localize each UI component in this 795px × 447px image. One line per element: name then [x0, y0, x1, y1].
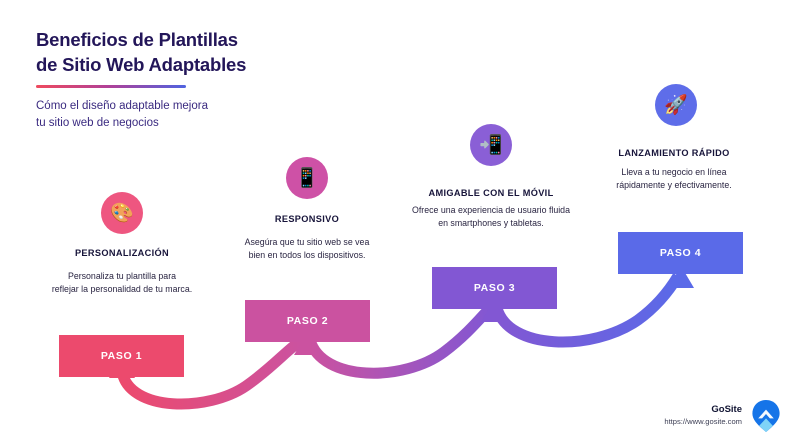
step-2-badge[interactable]: PASO 2: [245, 300, 370, 342]
step-2-description: Asegúra que tu sitio web se vea bien en …: [202, 236, 412, 262]
step-1-icon-glyph: 🎨: [110, 204, 134, 223]
mobile-phone-icon: 📱: [286, 157, 328, 199]
step-4-badge-label: PASO 4: [660, 247, 701, 259]
step-3-icon-glyph: 📲: [479, 136, 503, 155]
step-3-badge-label: PASO 3: [474, 282, 515, 294]
step-4-title: LANZAMIENTO RÁPIDO: [574, 148, 774, 158]
page-subtitle: Cómo el diseño adaptable mejora tu sitio…: [36, 98, 366, 131]
step-2-icon-glyph: 📱: [295, 169, 319, 188]
gosite-logo: [751, 399, 781, 433]
step-3-badge[interactable]: PASO 3: [432, 267, 557, 309]
artist-palette-icon: 🎨: [101, 192, 143, 234]
step-1-title: PERSONALIZACIÓN: [22, 248, 222, 258]
step-1-description: Personaliza tu plantilla para reflejar l…: [17, 270, 227, 296]
title-divider: [36, 85, 186, 88]
step-3-description: Ofrece una experiencia de usuario fluida…: [386, 204, 596, 230]
footer-text: GoSite https://www.gosite.com: [664, 404, 742, 428]
footer: GoSite https://www.gosite.com: [664, 399, 781, 433]
step-1-badge[interactable]: PASO 1: [59, 335, 184, 377]
step-4-badge[interactable]: PASO 4: [618, 232, 743, 274]
hand-holding-phone-icon: 📲: [470, 124, 512, 166]
step-2-title: RESPONSIVO: [207, 214, 407, 224]
brand-url[interactable]: https://www.gosite.com: [664, 416, 742, 427]
page-title: Beneficios de Plantillas de Sitio Web Ad…: [36, 28, 366, 77]
step-4-icon-glyph: 🚀: [664, 96, 688, 115]
step-2-badge-label: PASO 2: [287, 315, 328, 327]
infographic-canvas: Beneficios de Plantillas de Sitio Web Ad…: [0, 0, 795, 447]
step-4-description: Lleva a tu negocio en línea rápidamente …: [569, 166, 779, 192]
rocket-icon: 🚀: [655, 84, 697, 126]
step-1-badge-label: PASO 1: [101, 350, 142, 362]
brand-name: GoSite: [664, 404, 742, 416]
step-3-title: AMIGABLE CON EL MÓVIL: [391, 188, 591, 198]
header: Beneficios de Plantillas de Sitio Web Ad…: [36, 28, 366, 132]
